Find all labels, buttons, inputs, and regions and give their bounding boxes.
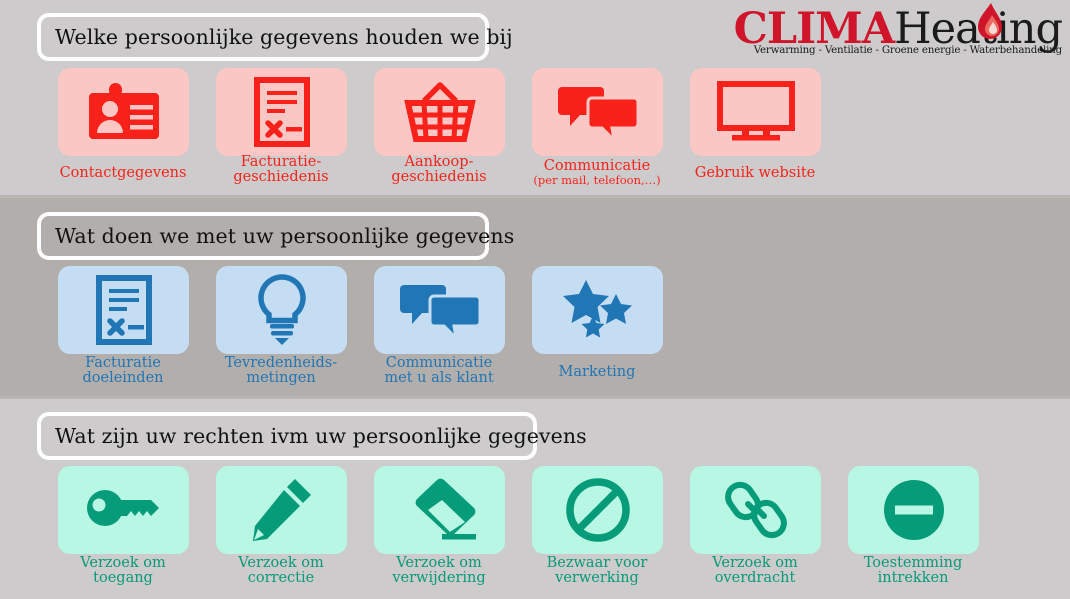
caption-contactgegevens: Contactgegevens [48, 166, 198, 181]
caption-toestemming-intrekken: Toestemming intrekken [838, 556, 988, 586]
card-communicatie[interactable] [532, 68, 663, 156]
caption-facturatie-geschiedenis: Facturatie- geschiedenis [206, 155, 356, 185]
caption-line-2: overdracht [715, 570, 796, 586]
caption-line-2: toegang [93, 570, 153, 586]
id-badge-icon [87, 83, 161, 141]
caption-line-1: Contactgegevens [60, 165, 187, 181]
stars-icon [562, 278, 634, 342]
eraser-icon [402, 478, 478, 542]
monitor-icon [716, 81, 796, 143]
card-tevredenheidsmetingen[interactable] [216, 266, 347, 354]
card-communicatie-klant[interactable] [374, 266, 505, 354]
section-heading-data-collected: Welke persoonlijke gegevens houden we bi… [37, 13, 489, 61]
caption-line-1: Verzoek om [396, 555, 481, 571]
card-verzoek-overdracht[interactable] [690, 466, 821, 554]
caption-line-2: correctie [248, 570, 314, 586]
caption-line-2: metingen [246, 370, 315, 386]
caption-subtext: (per mail, telefoon,…) [522, 174, 672, 186]
section-heading-data-usage: Wat doen we met uw persoonlijke gegevens [37, 212, 489, 260]
infographic-page: Welke persoonlijke gegevens houden we bi… [0, 0, 1070, 599]
caption-line-2: doeleinden [83, 370, 164, 386]
card-verzoek-correctie[interactable] [216, 466, 347, 554]
caption-line-1: Marketing [559, 364, 636, 380]
section-heading-user-rights: Wat zijn uw rechten ivm uw persoonlijke … [37, 412, 537, 460]
caption-line-1: Communicatie [544, 158, 650, 174]
chain-link-icon [724, 478, 788, 542]
caption-line-1: Verzoek om [238, 555, 323, 571]
caption-line-1: Gebruik website [695, 165, 816, 181]
flame-icon [975, 2, 1005, 44]
caption-verzoek-toegang: Verzoek om toegang [48, 556, 198, 586]
lightbulb-icon [256, 274, 308, 346]
caption-bezwaar-verwerking: Bezwaar voor verwerking [522, 556, 672, 586]
card-toestemming-intrekken[interactable] [848, 466, 979, 554]
card-aankoop-geschiedenis[interactable] [374, 68, 505, 156]
card-contactgegevens[interactable] [58, 68, 189, 156]
minus-circle-icon [882, 478, 946, 542]
caption-gebruik-website: Gebruik website [680, 166, 830, 181]
speech-bubbles-icon [558, 82, 638, 142]
caption-verzoek-correctie: Verzoek om correctie [206, 556, 356, 586]
caption-verzoek-verwijdering: Verzoek om verwijdering [364, 556, 514, 586]
caption-verzoek-overdracht: Verzoek om overdracht [680, 556, 830, 586]
card-facturatie-geschiedenis[interactable] [216, 68, 347, 156]
key-icon [85, 487, 163, 533]
caption-marketing: Marketing [522, 365, 672, 380]
caption-line-2: verwerking [555, 570, 639, 586]
speech-bubbles-icon [400, 280, 480, 340]
caption-line-2: geschiedenis [233, 169, 328, 185]
brand-logo: CLIMAHeating Verwarming - Ventilatie - G… [734, 8, 1062, 55]
invoice-icon [254, 77, 310, 147]
card-facturatie-doeleinden[interactable] [58, 266, 189, 354]
band-separator-2 [0, 396, 1070, 399]
caption-line-1: Aankoop- [405, 154, 474, 170]
card-verzoek-verwijdering[interactable] [374, 466, 505, 554]
caption-line-1: Bezwaar voor [547, 555, 648, 571]
caption-communicatie: Communicatie (per mail, telefoon,…) [522, 159, 672, 186]
caption-line-1: Verzoek om [80, 555, 165, 571]
caption-line-1: Verzoek om [712, 555, 797, 571]
invoice-icon [96, 275, 152, 345]
caption-line-2: met u als klant [384, 370, 493, 386]
caption-line-2: geschiedenis [391, 169, 486, 185]
band-separator-1 [0, 195, 1070, 198]
caption-line-1: Facturatie [85, 355, 161, 371]
card-verzoek-toegang[interactable] [58, 466, 189, 554]
caption-line-1: Communicatie [386, 355, 492, 371]
caption-communicatie-klant: Communicatie met u als klant [364, 356, 514, 386]
card-marketing[interactable] [532, 266, 663, 354]
shopping-basket-icon [402, 81, 478, 143]
caption-line-2: intrekken [878, 570, 949, 586]
card-gebruik-website[interactable] [690, 68, 821, 156]
caption-facturatie-doeleinden: Facturatie doeleinden [48, 356, 198, 386]
caption-aankoop-geschiedenis: Aankoop- geschiedenis [364, 155, 514, 185]
logo-tagline: Verwarming - Ventilatie - Groene energie… [734, 45, 1062, 55]
caption-tevredenheidsmetingen: Tevredenheids- metingen [206, 356, 356, 386]
caption-line-1: Facturatie- [241, 154, 322, 170]
caption-line-1: Tevredenheids- [225, 355, 337, 371]
card-bezwaar-verwerking[interactable] [532, 466, 663, 554]
prohibition-icon [565, 477, 631, 543]
caption-line-1: Toestemming [864, 555, 962, 571]
caption-line-2: verwijdering [392, 570, 485, 586]
pencil-icon [251, 477, 313, 543]
